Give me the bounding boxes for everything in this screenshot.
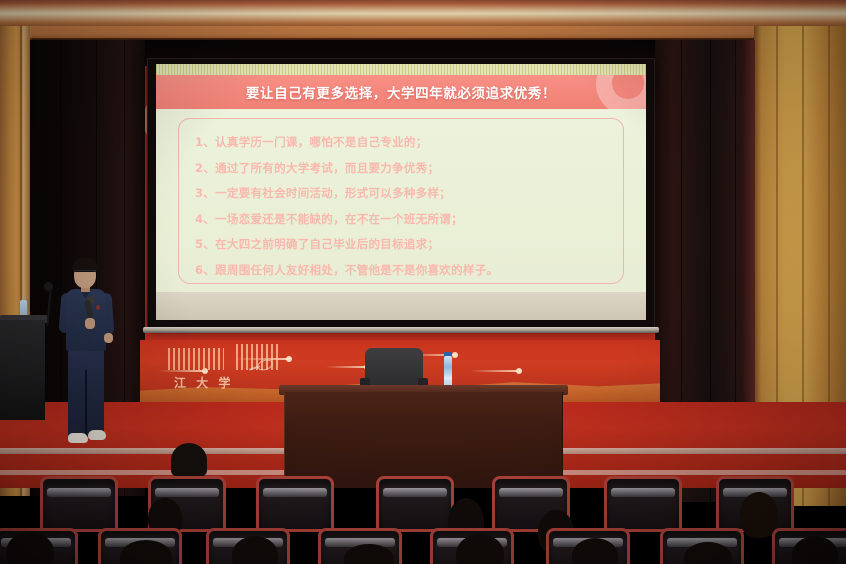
backdrop-building-graphic	[168, 348, 224, 370]
auditorium-seat	[376, 476, 454, 532]
projection-screen-rail	[143, 327, 659, 333]
auditorium-scene: 江 大 学 要让自己有更多选择，大学四年就必须追求优秀！ 1、认真学历一门课，哪…	[0, 0, 846, 564]
slide-hatch-band	[156, 64, 646, 75]
backdrop-streak-dot	[452, 352, 458, 358]
backdrop-streak	[326, 366, 366, 368]
backdrop-streak	[470, 370, 518, 372]
slide-title-bar: 要让自己有更多选择，大学四年就必须追求优秀！	[156, 75, 646, 109]
audience-head	[6, 532, 54, 564]
backdrop-streak-dot	[516, 368, 522, 374]
speaker-shoe-left	[68, 433, 88, 443]
lectern	[0, 320, 45, 420]
head-table-front	[284, 392, 563, 488]
backdrop-streak-dot	[286, 356, 292, 362]
slide-footer-band	[156, 292, 646, 320]
slide-content-card: 1、认真学历一门课，哪怕不是自己专业的； 2、通过了所有的大学考试，而且要力争优…	[178, 118, 624, 284]
auditorium-seat	[40, 476, 118, 532]
speaker-glasses-icon	[74, 270, 96, 274]
water-bottle	[444, 356, 452, 388]
slide-list-item: 3、一定要有社会时间活动，形式可以多种多样；	[195, 181, 623, 207]
auditorium-seat	[604, 476, 682, 532]
slide-list-item: 1、认真学历一门课，哪怕不是自己专业的；	[195, 130, 623, 156]
slide-list-item: 4、一场恋爱还是不能缺的，在不在一个班无所谓；	[195, 207, 623, 233]
ceiling-wall	[0, 0, 846, 26]
auditorium-seat	[256, 476, 334, 532]
backdrop-university-text: 江 大 学	[174, 374, 233, 391]
slide-list-item: 2、通过了所有的大学考试，而且要力争优秀；	[195, 156, 623, 182]
microphone-head-icon	[44, 282, 53, 291]
speaker-shirt-logo	[96, 305, 100, 310]
presentation-slide: 要让自己有更多选择，大学四年就必须追求优秀！ 1、认真学历一门课，哪怕不是自己专…	[156, 64, 646, 320]
slide-title: 要让自己有更多选择，大学四年就必须追求优秀！	[246, 82, 556, 102]
speaker-leg-split	[85, 370, 87, 437]
backdrop-streak	[158, 370, 204, 372]
slide-list-item: 5、在大四之前明确了自己毕业后的目标追求；	[195, 232, 623, 258]
speaker-hand-right	[104, 333, 113, 343]
speaker-shoe-right	[88, 430, 106, 440]
slide-list-item: 6、跟周围任何人友好相处，不管他是不是你喜欢的样子。	[195, 258, 623, 284]
speaker-hand-left	[85, 318, 95, 329]
projection-screen: 要让自己有更多选择，大学四年就必须追求优秀！ 1、认真学历一门课，哪怕不是自己专…	[156, 64, 646, 320]
backpack	[171, 443, 207, 477]
